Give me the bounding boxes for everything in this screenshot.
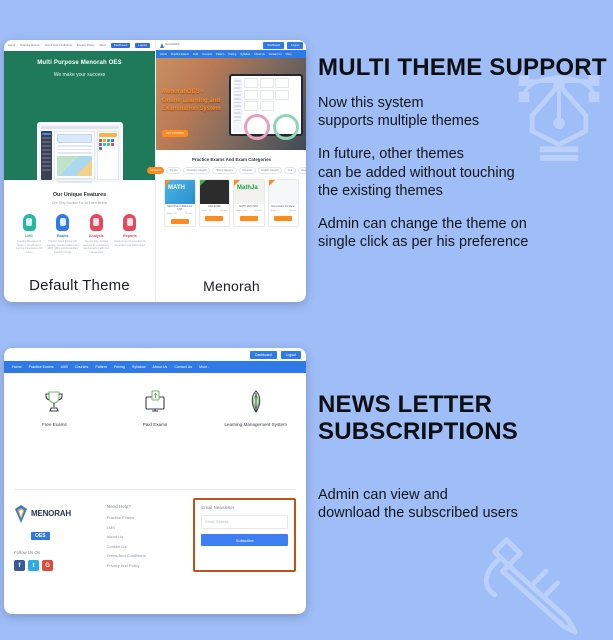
nav-item[interactable]: Home (8, 44, 15, 47)
feature-desc: Learning Management System. You will get… (13, 240, 45, 254)
brand-badge: OES (31, 532, 50, 540)
features-row: Free Exams Paid Exams (4, 373, 306, 489)
multi-theme-heading: MULTI THEME SUPPORT (318, 55, 613, 82)
section-title: Practice Exams And Exam Categories (161, 157, 302, 162)
newsletter-text-block: NEWS LETTER SUBSCRIPTIONS Admin can view… (318, 392, 613, 523)
logout-button[interactable]: Logout (287, 42, 303, 49)
default-theme-hero: Multi Purpose Menorah OES We make your s… (4, 51, 155, 180)
nav-item-pricing[interactable]: Pricing (114, 365, 125, 369)
dashboard-mockup (229, 74, 303, 136)
nav-item-syllabus[interactable]: Syllabus (240, 53, 250, 56)
email-input[interactable]: Email Address (201, 515, 288, 529)
category-chip[interactable]: Java Exam (298, 167, 306, 174)
default-theme-navbar[interactable]: Home Practice Exams Terms And Conditions… (4, 40, 155, 51)
feature-label: Free Exams (8, 422, 100, 427)
category-chip[interactable]: Physics (166, 167, 181, 174)
nav-item[interactable]: Privacy Policy (77, 44, 95, 47)
menorah-logo-icon (14, 504, 28, 524)
footer-brand: MENORAH OES Follow Us On f t G (14, 504, 97, 572)
footer-link-contact-us[interactable]: Contact Us (107, 544, 184, 549)
subscribe-button[interactable]: Subscribe (201, 534, 288, 546)
trophy-icon (41, 389, 67, 415)
view-exam-button[interactable] (274, 216, 292, 221)
footer-link-about-us[interactable]: About Us (107, 534, 184, 539)
exam-title: MATH JAVA TEST (236, 206, 262, 209)
footer-link-practice-exams[interactable]: Practice Exams (107, 515, 184, 520)
exam-title: JAVA EXAM (202, 206, 228, 209)
nav-item-pricing[interactable]: Pricing (228, 53, 236, 56)
theme-preview-card: Home Practice Exams Terms And Conditions… (4, 40, 306, 302)
logout-button[interactable]: Logout (135, 43, 150, 48)
nav-item-courses[interactable]: Courses (75, 365, 88, 369)
nav-item-pattern[interactable]: Pattern (95, 365, 107, 369)
exam-card[interactable]: MATH MULTIPLE FORMULAS LIST Marks : 10 3… (164, 179, 196, 227)
category-chip[interactable]: All Exams (147, 167, 164, 174)
feature-label: LMS (13, 234, 45, 238)
brand-name: MENORAH (31, 510, 71, 518)
poster-canvas: Home Practice Exams Terms And Conditions… (0, 0, 613, 640)
exam-card-list: MATH MULTIPLE FORMULAS LIST Marks : 10 3… (161, 179, 302, 227)
hero-subtitle: We make your success (54, 72, 106, 78)
nav-item-syllabus[interactable]: Syllabus (132, 365, 146, 369)
feature-desc: You can have detailed analysis for a stu… (80, 240, 112, 254)
feature-desc: Practice, Mock Exams with real time ques… (47, 240, 79, 254)
view-exam-button[interactable] (240, 216, 258, 221)
exam-duration: 30 mins (185, 213, 192, 215)
nav-item-home[interactable]: Home (12, 365, 22, 369)
lms-icon (23, 214, 36, 231)
multi-theme-paragraph: In future, other themes can be added wit… (318, 145, 613, 201)
feature-free-exams[interactable]: Free Exams (8, 389, 100, 427)
pen-icon (473, 534, 591, 636)
nav-item[interactable]: Practice Exams (20, 44, 39, 47)
feature-label: Paid Exams (109, 422, 201, 427)
default-theme-label: Default Theme (4, 277, 155, 294)
category-chip[interactable]: History Category (212, 167, 236, 174)
menorah-theme-label: Menorah (156, 278, 306, 294)
nav-item-lms[interactable]: LMS (61, 365, 68, 369)
multi-theme-paragraph: Admin can change the theme on single cli… (318, 215, 613, 252)
twitter-icon[interactable]: t (28, 560, 39, 571)
exam-marks: Marks : 10 (167, 213, 177, 215)
get-started-button[interactable]: GET STARTED (162, 130, 188, 137)
analysis-icon (90, 214, 103, 231)
newsletter-panel: Email Newsletter Email Address Subscribe (193, 498, 296, 572)
nav-item-about-us[interactable]: About Us (153, 365, 168, 369)
exam-title: Demo Exam For Paper (271, 206, 297, 209)
newsletter-paragraph: Admin can view and download the subscrib… (318, 486, 613, 523)
nav-item-courses[interactable]: Courses (202, 53, 212, 56)
feature-desc: Detailed reports generated for the stude… (114, 240, 146, 247)
nav-item[interactable]: More (100, 44, 106, 47)
category-chip[interactable]: Test (284, 167, 295, 174)
hero-title: MenorahOES - Online Learning and Examina… (162, 88, 221, 114)
nav-item-more[interactable]: More - (199, 365, 209, 369)
menorah-topbar[interactable]: MenorahOES Dashboard Logout (156, 40, 306, 50)
exam-card[interactable]: MathJa MATH JAVA TEST Marks : 100 60 min… (233, 179, 265, 227)
category-chip[interactable]: Chemistry Category (183, 167, 210, 174)
default-theme-preview[interactable]: Home Practice Exams Terms And Conditions… (4, 40, 156, 302)
nav-item-contact-us[interactable]: Contact Us (269, 53, 282, 56)
facebook-icon[interactable]: f (14, 560, 25, 571)
multi-theme-paragraph: Now this system supports multiple themes (318, 94, 613, 131)
exams-icon (56, 214, 69, 231)
feature-label: Exams (47, 234, 79, 238)
exam-badge: MathJa (237, 185, 258, 191)
menorah-theme-preview[interactable]: MenorahOES Dashboard Logout Home Practic… (156, 40, 306, 302)
menorah-hero: MenorahOES - Online Learning and Examina… (156, 58, 306, 150)
feature-label: Learning Management System (210, 422, 302, 427)
laptop-mockup (37, 122, 123, 184)
newsletter-heading: NEWS LETTER SUBSCRIPTIONS (318, 392, 613, 446)
footer-link-privacy[interactable]: Privacy And Policy (107, 563, 184, 568)
features-section: Our Unique Features One Stop Solution Fo… (4, 180, 155, 254)
site-navbar[interactable]: Home Practice Exams LMS Courses Pattern … (4, 361, 306, 373)
exam-card[interactable]: Demo Exam For Paper Marks : 5 15 mins (268, 179, 300, 227)
monitor-money-icon (142, 389, 168, 415)
category-chips[interactable]: All Exams Physics Chemistry Category His… (161, 167, 302, 174)
footer-links: Need Help? Practice Exams LMS About Us C… (107, 504, 184, 572)
reports-icon (123, 214, 136, 231)
features-title: Our Unique Features (10, 192, 149, 198)
exam-duration: 60 mins (254, 210, 261, 212)
view-exam-button[interactable] (205, 216, 223, 221)
menorah-logo[interactable]: MenorahOES (160, 43, 179, 48)
nav-item[interactable]: Terms And Conditions (45, 44, 72, 47)
google-plus-icon[interactable]: G (42, 560, 53, 571)
nav-item-more[interactable]: More (286, 53, 292, 56)
footer-link-terms[interactable]: Terms And Conditions (107, 553, 184, 558)
social-links[interactable]: f t G (14, 560, 97, 571)
logout-button[interactable]: Logout (281, 351, 301, 359)
newsletter-preview-card: Dashboard Logout Home Practice Exams LMS… (4, 348, 306, 614)
footer-link-lms[interactable]: LMS (107, 525, 184, 530)
feature-label: Analysis (80, 234, 112, 238)
nav-item-lms[interactable]: LMS (193, 53, 198, 56)
feature-item[interactable]: LMS Learning Management System. You will… (13, 214, 45, 254)
exam-card[interactable]: JAVA EXAM Marks : 20 25 mins (199, 179, 231, 227)
dashboard-button[interactable]: Dashboard (263, 42, 284, 49)
feature-item[interactable]: Exams Practice, Mock Exams with real tim… (47, 214, 79, 254)
exam-badge: MATH (168, 185, 185, 191)
site-topbar[interactable]: Dashboard Logout (4, 348, 306, 361)
view-exam-button[interactable] (171, 219, 189, 224)
category-chip[interactable]: Chemistry (239, 167, 256, 174)
multi-theme-text-block: MULTI THEME SUPPORT Now this system supp… (318, 55, 613, 252)
nav-item-about-us[interactable]: About Us (254, 53, 265, 56)
exam-marks: Marks : 100 (236, 210, 247, 212)
nav-item-practice-exams[interactable]: Practice Exams (171, 53, 189, 56)
exam-duration: 15 mins (289, 210, 296, 212)
features-subtitle: One Stop Solution For All Exam Needs (10, 201, 149, 205)
exam-marks: Marks : 5 (271, 210, 280, 212)
links-heading: Need Help? (107, 504, 184, 509)
exams-section: Practice Exams And Exam Categories All E… (156, 150, 306, 227)
book-leaf-icon (243, 389, 269, 415)
nav-item-pattern[interactable]: Pattern (216, 53, 224, 56)
site-footer: MENORAH OES Follow Us On f t G Need Help… (4, 490, 306, 572)
feature-lms[interactable]: Learning Management System (210, 389, 302, 427)
feature-item[interactable]: Analysis You can have detailed analysis … (80, 214, 112, 254)
exam-marks: Marks : 20 (202, 210, 212, 212)
nav-item-practice-exams[interactable]: Practice Exams (29, 365, 54, 369)
feature-label: Reports (114, 234, 146, 238)
dashboard-button[interactable]: Dashboard (111, 43, 131, 48)
hero-title: Multi Purpose Menorah OES (37, 60, 121, 66)
nav-item-contact-us[interactable]: Contact Us (174, 365, 192, 369)
exam-title: MULTIPLE FORMULAS LIST (167, 206, 193, 212)
nav-item-home[interactable]: Home (160, 53, 167, 56)
newsletter-heading: Email Newsletter (201, 505, 288, 510)
feature-paid-exams[interactable]: Paid Exams (109, 389, 201, 427)
dashboard-button[interactable]: Dashboard (250, 351, 277, 359)
category-chip[interactable]: English Category (258, 167, 283, 174)
exam-duration: 25 mins (220, 210, 227, 212)
follow-label: Follow Us On (14, 550, 97, 555)
menorah-navbar[interactable]: Home Practice Exams LMS Courses Pattern … (156, 50, 306, 58)
feature-item[interactable]: Reports Detailed reports generated for t… (114, 214, 146, 254)
logo-text: MenorahOES (165, 44, 179, 46)
